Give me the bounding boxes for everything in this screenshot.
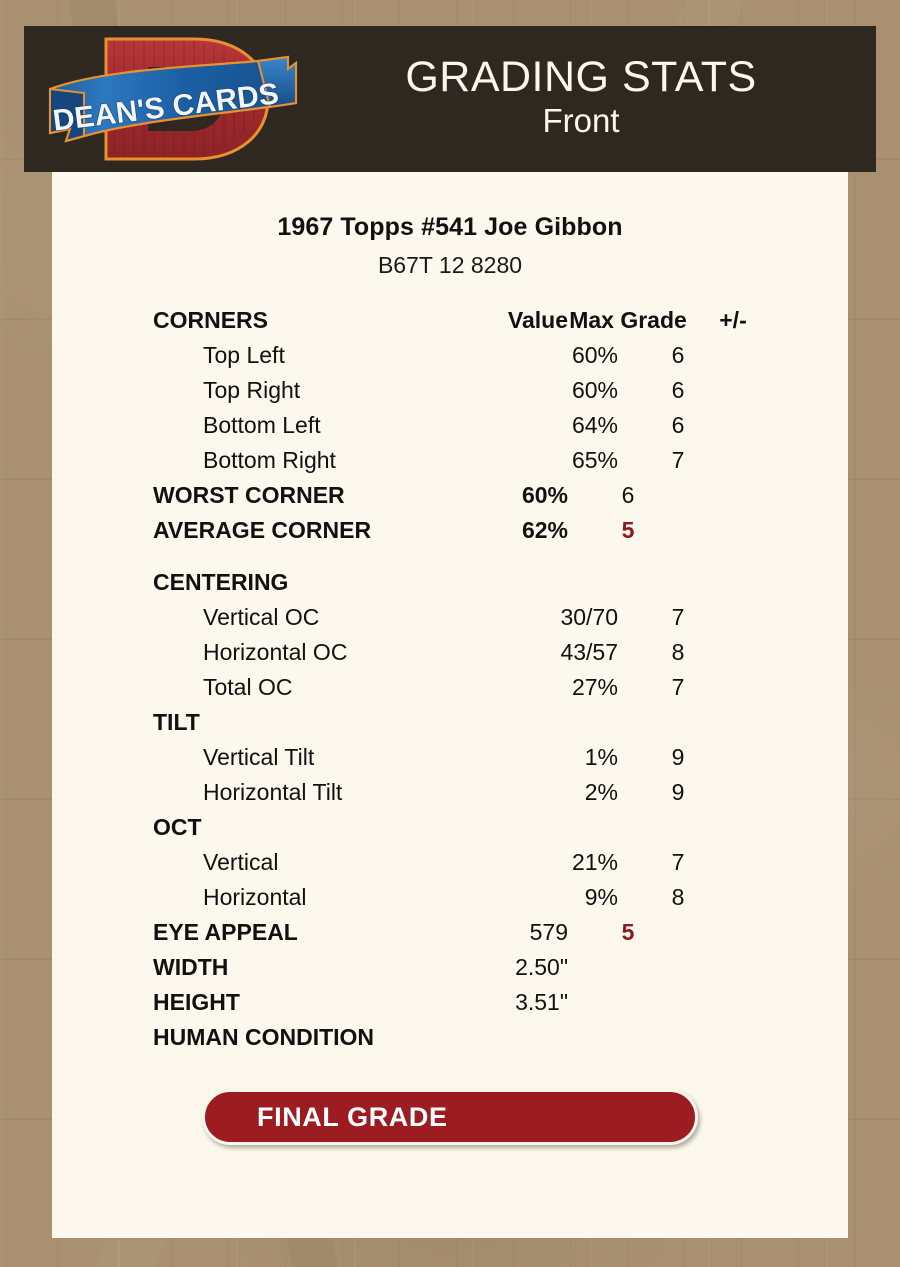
table-row: Total OC 27% 7 (153, 674, 848, 709)
row-label: WORST CORNER (153, 482, 453, 509)
row-value: 3.51" (453, 989, 568, 1016)
table-row: Horizontal OC 43/57 8 (153, 639, 848, 674)
row-label: WIDTH (153, 954, 453, 981)
row-grade: 5 (568, 919, 688, 946)
table-row-eye-appeal: EYE APPEAL 579 5 (153, 919, 848, 954)
row-value: 27% (503, 674, 618, 701)
row-label: EYE APPEAL (153, 919, 453, 946)
page-subtitle: Front (306, 100, 856, 141)
row-grade: 7 (618, 674, 738, 701)
section-spacer (153, 552, 848, 569)
content-panel: 1967 Topps #541 Joe Gibbon B67T 12 8280 … (52, 172, 848, 1238)
row-grade: 6 (618, 342, 738, 369)
row-label: Bottom Left (153, 412, 503, 439)
row-grade: 8 (618, 639, 738, 666)
row-value: 9% (503, 884, 618, 911)
table-row-human-condition: HUMAN CONDITION (153, 1024, 848, 1059)
final-grade-button[interactable]: FINAL GRADE (202, 1089, 698, 1145)
row-grade: 7 (618, 849, 738, 876)
row-grade: 6 (618, 412, 738, 439)
row-grade: 7 (618, 604, 738, 631)
row-value: 43/57 (503, 639, 618, 666)
table-row-width: WIDTH 2.50" (153, 954, 848, 989)
column-header-corners: CORNERS (153, 307, 453, 334)
logo-svg: DEAN'S CARDS (44, 33, 306, 165)
row-value: 1% (503, 744, 618, 771)
row-grade: 8 (618, 884, 738, 911)
row-label: Vertical (153, 849, 503, 876)
table-header-row: CORNERS Value Max Grade +/- (153, 307, 848, 342)
row-value: 2.50" (453, 954, 568, 981)
section-header-oct: OCT (153, 814, 848, 849)
table-row-average-corner: AVERAGE CORNER 62% 5 (153, 517, 848, 552)
row-value: 2% (503, 779, 618, 806)
section-label: CENTERING (153, 569, 453, 596)
card-serial: B67T 12 8280 (52, 252, 848, 279)
section-label: OCT (153, 814, 453, 841)
row-label: Vertical Tilt (153, 744, 503, 771)
row-label: HUMAN CONDITION (153, 1024, 453, 1051)
row-label: Horizontal OC (153, 639, 503, 666)
grading-stats-table: CORNERS Value Max Grade +/- Top Left 60%… (52, 307, 848, 1059)
row-label: Horizontal Tilt (153, 779, 503, 806)
deans-cards-logo: DEAN'S CARDS (44, 33, 306, 165)
table-row: Horizontal Tilt 2% 9 (153, 779, 848, 814)
row-grade: 6 (568, 482, 688, 509)
row-value: 30/70 (503, 604, 618, 631)
section-label: TILT (153, 709, 453, 736)
table-row: Vertical Tilt 1% 9 (153, 744, 848, 779)
table-row: Vertical 21% 7 (153, 849, 848, 884)
final-grade-label: FINAL GRADE (257, 1102, 448, 1133)
row-value: 65% (503, 447, 618, 474)
row-grade: 7 (618, 447, 738, 474)
row-grade: 9 (618, 779, 738, 806)
row-label: Top Right (153, 377, 503, 404)
table-row: Top Left 60% 6 (153, 342, 848, 377)
row-grade: 6 (618, 377, 738, 404)
column-header-max-grade: Max Grade (568, 307, 688, 334)
row-value: 21% (503, 849, 618, 876)
row-label: Top Left (153, 342, 503, 369)
table-row: Vertical OC 30/70 7 (153, 604, 848, 639)
row-label: Horizontal (153, 884, 503, 911)
row-label: HEIGHT (153, 989, 453, 1016)
row-value: 60% (503, 342, 618, 369)
row-value: 60% (453, 482, 568, 509)
final-grade-container: FINAL GRADE (52, 1089, 848, 1145)
table-row: Bottom Left 64% 6 (153, 412, 848, 447)
row-label: Total OC (153, 674, 503, 701)
row-grade: 5 (568, 517, 688, 544)
card-title: 1967 Topps #541 Joe Gibbon (52, 213, 848, 242)
page-title: GRADING STATS (306, 56, 856, 100)
table-row: Horizontal 9% 8 (153, 884, 848, 919)
column-header-plus-minus: +/- (688, 307, 778, 334)
section-header-centering: CENTERING (153, 569, 848, 604)
row-value: 579 (453, 919, 568, 946)
row-label: AVERAGE CORNER (153, 517, 453, 544)
row-grade: 9 (618, 744, 738, 771)
row-label: Bottom Right (153, 447, 503, 474)
row-value: 60% (503, 377, 618, 404)
section-header-tilt: TILT (153, 709, 848, 744)
column-header-value: Value (453, 307, 568, 334)
header-band: DEAN'S CARDS GRADING STATS Front (24, 26, 876, 172)
row-value: 64% (503, 412, 618, 439)
table-row: Top Right 60% 6 (153, 377, 848, 412)
row-label: Vertical OC (153, 604, 503, 631)
header-titles: GRADING STATS Front (306, 56, 876, 141)
row-value: 62% (453, 517, 568, 544)
table-row: Bottom Right 65% 7 (153, 447, 848, 482)
table-row-worst-corner: WORST CORNER 60% 6 (153, 482, 848, 517)
table-row-height: HEIGHT 3.51" (153, 989, 848, 1024)
